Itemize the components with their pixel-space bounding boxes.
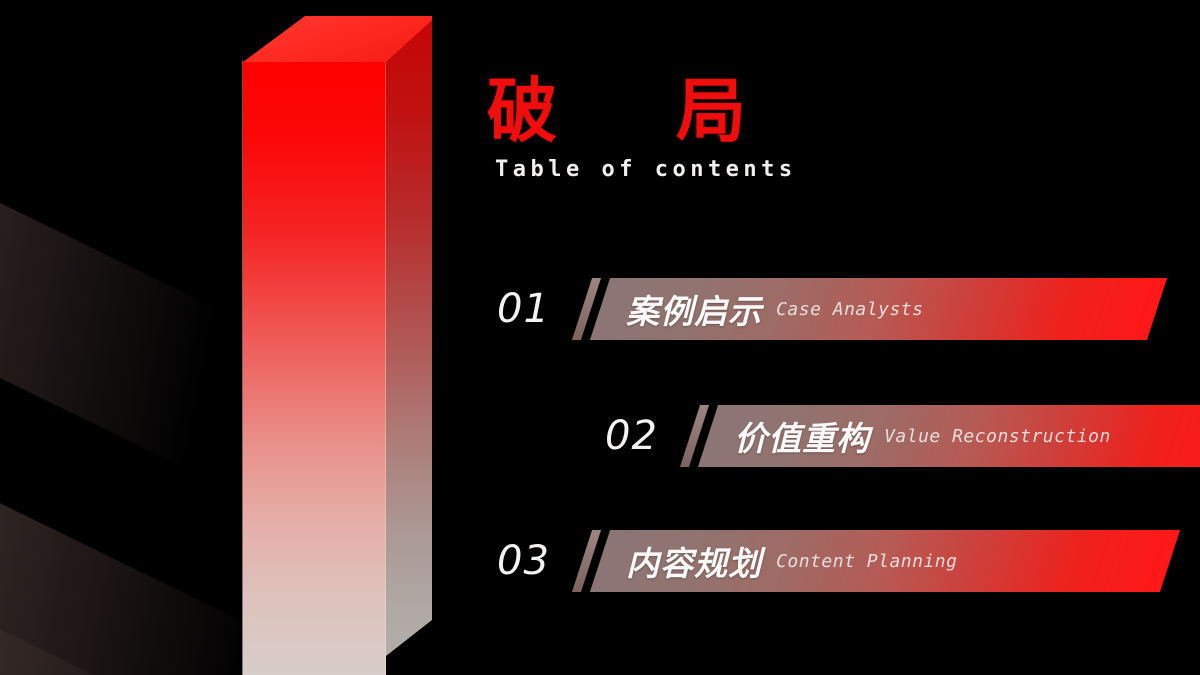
- toc-item-03-title-en: Content Planning: [776, 551, 957, 572]
- pillar-right-face: [386, 18, 432, 675]
- pillar-corner-edge-highlight: [385, 62, 386, 675]
- page-title-en: Table of contents: [495, 157, 957, 182]
- pillar-left-edge-highlight: [242, 60, 243, 675]
- red-3d-pillar: [0, 0, 470, 675]
- toc-item-03-title-cn: 内容规划: [626, 537, 762, 585]
- toc-item-02-title-en: Value Reconstruction: [884, 426, 1111, 447]
- toc-item-03-bar[interactable]: 内容规划 Content Planning: [590, 530, 1180, 592]
- toc-item-01[interactable]: 01 案例启示 Case Analysts: [497, 278, 1157, 340]
- slide-canvas: 破 局 Table of contents 01 案例启示 Case Analy…: [0, 0, 1200, 675]
- pillar-front-face: [243, 62, 386, 675]
- toc-item-01-bar[interactable]: 案例启示 Case Analysts: [590, 278, 1167, 340]
- toc-item-01-number: 01: [497, 289, 550, 329]
- toc-item-01-title-cn: 案例启示: [626, 285, 762, 333]
- toc-item-02-bar[interactable]: 价值重构 Value Reconstruction: [698, 405, 1200, 467]
- toc-item-03[interactable]: 03 内容规划 Content Planning: [497, 530, 1172, 592]
- toc-item-03-number: 03: [497, 541, 550, 581]
- toc-item-02-title-cn: 价值重构: [734, 412, 870, 460]
- toc-item-01-title-en: Case Analysts: [776, 299, 923, 320]
- toc-item-02-number: 02: [605, 416, 658, 456]
- page-header: 破 局 Table of contents: [487, 78, 957, 182]
- page-title-cn: 破 局: [487, 78, 957, 148]
- toc-item-02[interactable]: 02 价值重构 Value Reconstruction: [605, 405, 1200, 467]
